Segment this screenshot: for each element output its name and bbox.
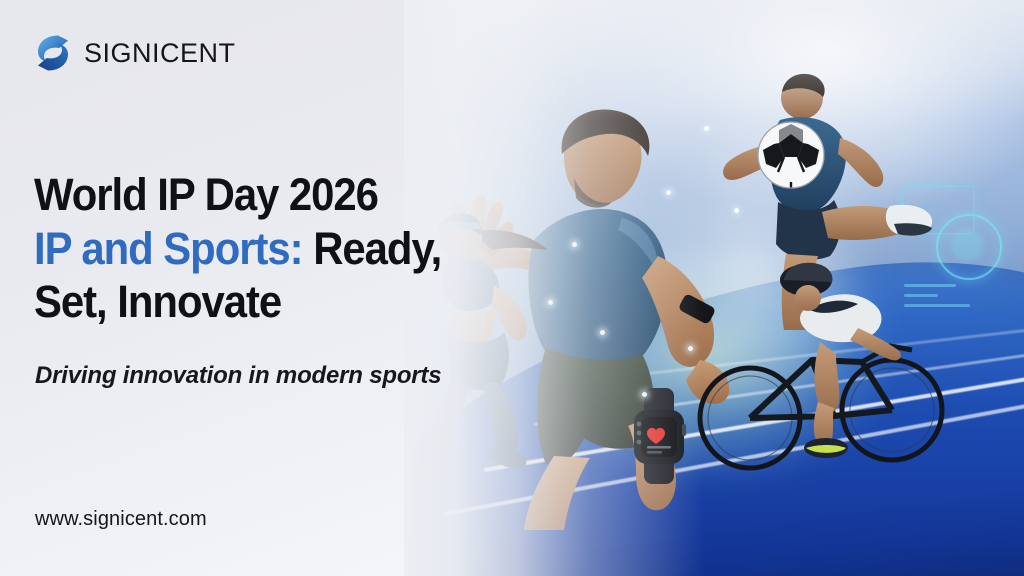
soccer-ball-icon xyxy=(756,120,826,190)
sparkle-node xyxy=(572,242,577,247)
headline-line-2: IP and Sports: Ready, xyxy=(34,222,441,276)
sports-composite-artwork xyxy=(404,0,1024,576)
brand-logo[interactable]: SIGNICENT xyxy=(33,33,236,73)
sparkle-node xyxy=(642,392,647,397)
sparkle-node xyxy=(666,190,671,195)
sparkle-node xyxy=(548,300,553,305)
headline-line-1: World IP Day 2026 xyxy=(34,168,441,222)
smartwatch-icon xyxy=(620,388,702,484)
website-url[interactable]: www.signicent.com xyxy=(35,508,207,531)
cyclist-figure xyxy=(694,250,954,480)
sparkle-node xyxy=(704,126,709,131)
sparkle-node xyxy=(600,330,605,335)
sparkle-node xyxy=(734,208,739,213)
headline-accent-text: IP and Sports: xyxy=(34,223,303,274)
tagline: Driving innovation in modern sports xyxy=(35,362,441,390)
signicent-s-logo-icon xyxy=(33,33,73,73)
promotional-banner: SIGNICENT World IP Day 2026 IP and Sport… xyxy=(0,0,1024,576)
sparkle-node xyxy=(688,346,693,351)
headline-line-2-rest: Ready, xyxy=(313,223,441,274)
brand-name: SIGNICENT xyxy=(84,38,236,69)
headline-line-3: Set, Innovate xyxy=(34,275,441,329)
headline-block: World IP Day 2026 IP and Sports: Ready, … xyxy=(34,168,472,329)
